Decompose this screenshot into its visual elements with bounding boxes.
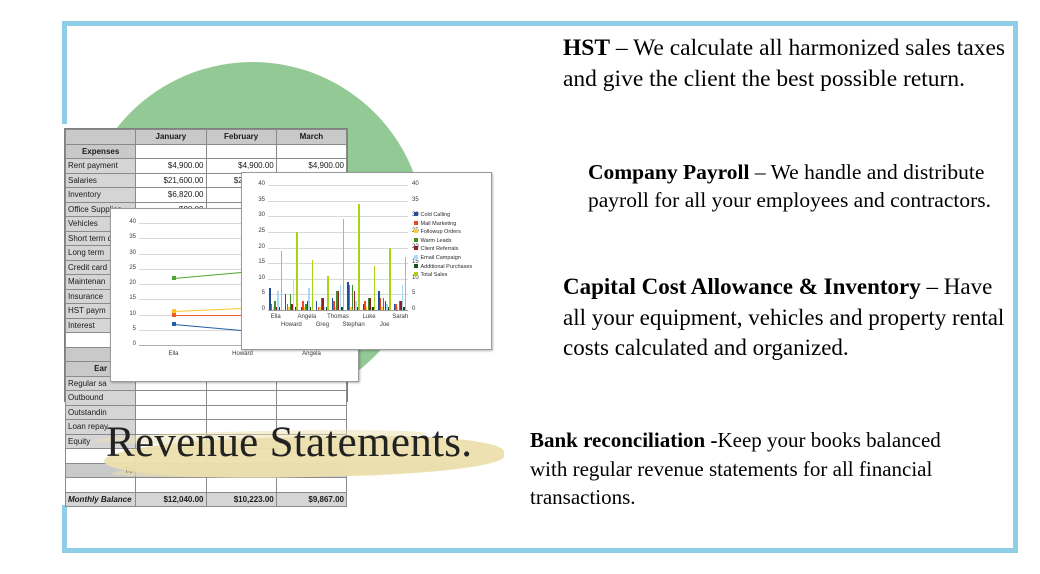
spacer-cell xyxy=(276,478,346,493)
row-value xyxy=(136,391,206,406)
legend-label: Client Referrals xyxy=(421,246,459,252)
legend-label: Email Campaign xyxy=(421,255,461,261)
y-axis-right-tick-label: 0 xyxy=(412,306,428,312)
y-axis-tick-label: 10 xyxy=(120,311,136,317)
table-row: Rent payment$4,900.00$4,900.00$4,900.00 xyxy=(66,159,347,174)
table-row: JanuaryFebruaryMarch xyxy=(66,130,347,145)
x-axis-category-label: Howard xyxy=(215,351,271,357)
spacer-cell xyxy=(66,478,136,493)
legend-item: Email Campaign xyxy=(414,254,472,263)
legend-item: Mail Marketing xyxy=(414,220,472,229)
row-value xyxy=(206,391,276,406)
y-axis-tick-label: 15 xyxy=(249,259,265,265)
legend-item: Client Referrals xyxy=(414,245,472,254)
y-axis-tick-label: 40 xyxy=(249,181,265,187)
section-header-spacer xyxy=(136,144,206,159)
table-row: Expenses xyxy=(66,144,347,159)
gridline xyxy=(268,201,408,202)
legend-label: Followup Orders xyxy=(421,229,461,235)
table-corner-cell xyxy=(66,130,136,145)
balance-value: $12,040.00 xyxy=(136,492,206,507)
gridline xyxy=(268,185,408,186)
spacer-cell xyxy=(136,478,206,493)
bar-total-sales xyxy=(389,248,390,311)
bar-total-sales xyxy=(358,204,359,310)
line-series-4-segment xyxy=(174,272,243,279)
bar-total-sales xyxy=(327,276,328,310)
legend-label: Total Sales xyxy=(421,272,448,278)
y-axis-tick-label: 25 xyxy=(249,228,265,234)
x-axis-category-label: Howard xyxy=(275,322,307,328)
table-row: Monthly Balance$12,040.00$10,223.00$9,86… xyxy=(66,492,347,507)
copy-lead-cca: Capital Cost Allowance & Inventory xyxy=(563,274,921,299)
x-axis-category-label: Stephan xyxy=(338,322,370,328)
legend-label: Warm Leads xyxy=(421,238,452,244)
table-row: Outbound xyxy=(66,391,347,406)
legend-swatch-icon xyxy=(414,246,418,250)
y-axis-tick-label: 5 xyxy=(249,290,265,296)
row-value xyxy=(276,391,346,406)
slide-canvas: JanuaryFebruaryMarchExpensesRent payment… xyxy=(0,0,1040,574)
balance-value: $9,867.00 xyxy=(276,492,346,507)
gridline xyxy=(268,248,408,249)
y-axis-right-tick-label: 35 xyxy=(412,197,428,203)
bar-total-sales xyxy=(405,257,406,310)
y-axis-tick-label: 20 xyxy=(249,244,265,250)
line-series-3-marker xyxy=(172,309,176,313)
column-header: January xyxy=(136,130,206,145)
y-axis-tick-label: 10 xyxy=(249,275,265,281)
frame-border-bottom xyxy=(62,548,1018,553)
copy-block-hst: HST – We calculate all harmonized sales … xyxy=(563,33,1011,94)
balance-label: Monthly Balance xyxy=(66,492,136,507)
y-axis-tick-label: 5 xyxy=(120,326,136,332)
y-axis-right-tick-label: 5 xyxy=(412,290,428,296)
bar-total-sales xyxy=(343,219,344,310)
row-value: $21,600.00 xyxy=(136,173,206,188)
gridline xyxy=(268,232,408,233)
legend-item: Total Sales xyxy=(414,271,472,280)
frame-border-left-upper xyxy=(62,21,67,124)
legend-swatch-icon xyxy=(414,255,418,259)
table-row xyxy=(66,478,347,493)
legend-item: Followup Orders xyxy=(414,228,472,237)
y-axis-tick-label: 30 xyxy=(120,250,136,256)
row-label: Rent payment xyxy=(66,159,136,174)
legend-swatch-icon xyxy=(414,221,418,225)
y-axis-tick-label: 0 xyxy=(120,341,136,347)
section-header-spacer xyxy=(206,144,276,159)
y-axis-tick-label: 40 xyxy=(120,219,136,225)
line-series-1-marker xyxy=(172,322,176,326)
column-header: February xyxy=(206,130,276,145)
copy-block-bank: Bank reconciliation -Keep your books bal… xyxy=(530,426,950,512)
gridline xyxy=(268,279,408,280)
copy-lead-payroll: Company Payroll xyxy=(588,160,749,184)
y-axis-tick-label: 25 xyxy=(120,265,136,271)
copy-block-cca: Capital Cost Allowance & Inventory – Hav… xyxy=(563,272,1015,364)
row-value: $4,900.00 xyxy=(276,159,346,174)
line-series-2-segment xyxy=(174,315,243,316)
x-axis-category-label: Angela xyxy=(284,351,340,357)
x-axis-category-label: Luke xyxy=(353,314,385,320)
bar-chart-legend: Cold CallingMail MarketingFollowup Order… xyxy=(414,211,472,280)
row-label: Salaries xyxy=(66,173,136,188)
y-axis-tick-label: 30 xyxy=(249,212,265,218)
bar-chart-window: 05101520253035400510152025303540EllaHowa… xyxy=(241,172,492,350)
bar-total-sales xyxy=(374,266,375,310)
legend-item: Warm Leads xyxy=(414,237,472,246)
row-value: $4,900.00 xyxy=(136,159,206,174)
legend-swatch-icon xyxy=(414,264,418,268)
copy-body-hst: – We calculate all harmonized sales taxe… xyxy=(563,35,1005,92)
row-label: Outbound xyxy=(66,391,136,406)
gridline xyxy=(268,216,408,217)
legend-label: Additional Purchases xyxy=(421,264,473,270)
x-axis-category-label: Joe xyxy=(369,322,401,328)
section-header-spacer xyxy=(276,144,346,159)
y-axis-tick-label: 0 xyxy=(249,306,265,312)
x-axis-category-label: Ella xyxy=(260,314,292,320)
balance-value: $10,223.00 xyxy=(206,492,276,507)
copy-lead-hst: HST xyxy=(563,35,610,61)
column-header: March xyxy=(276,130,346,145)
legend-label: Mail Marketing xyxy=(421,221,457,227)
x-axis-category-label: Angela xyxy=(291,314,323,320)
spacer-cell xyxy=(206,478,276,493)
legend-swatch-icon xyxy=(414,272,418,276)
bar-total-sales xyxy=(312,260,313,310)
row-value: $4,900.00 xyxy=(206,159,276,174)
legend-item: Additional Purchases xyxy=(414,263,472,272)
legend-swatch-icon xyxy=(414,238,418,242)
frame-border-top xyxy=(62,21,1018,26)
bar-total-sales xyxy=(296,232,297,310)
y-axis-right-tick-label: 40 xyxy=(412,181,428,187)
row-value: $6,820.00 xyxy=(136,188,206,203)
line-series-3-segment xyxy=(174,308,243,312)
y-axis-tick-label: 15 xyxy=(120,295,136,301)
line-series-4-marker xyxy=(172,276,176,280)
frame-border-left-lower xyxy=(62,505,67,553)
page-title: Revenue Statements. xyxy=(106,418,536,467)
x-axis-category-label: Greg xyxy=(306,322,338,328)
x-axis-category-label: Thomas xyxy=(322,314,354,320)
y-axis-tick-label: 20 xyxy=(120,280,136,286)
legend-swatch-icon xyxy=(414,229,418,233)
y-axis-tick-label: 35 xyxy=(120,234,136,240)
gridline xyxy=(268,263,408,264)
legend-item: Cold Calling xyxy=(414,211,472,220)
x-axis-line xyxy=(268,310,408,311)
bar-email-campaign xyxy=(293,279,294,310)
y-axis-tick-label: 35 xyxy=(249,197,265,203)
copy-lead-bank: Bank reconciliation - xyxy=(530,428,717,452)
legend-label: Cold Calling xyxy=(421,212,451,218)
section-header: Expenses xyxy=(66,144,136,159)
x-axis-category-label: Sarah xyxy=(384,314,416,320)
copy-block-payroll: Company Payroll – We handle and distribu… xyxy=(588,158,1012,214)
legend-swatch-icon xyxy=(414,212,418,216)
bar-total-sales xyxy=(281,251,282,310)
x-axis-category-label: Ella xyxy=(146,351,202,357)
row-label: Inventory xyxy=(66,188,136,203)
